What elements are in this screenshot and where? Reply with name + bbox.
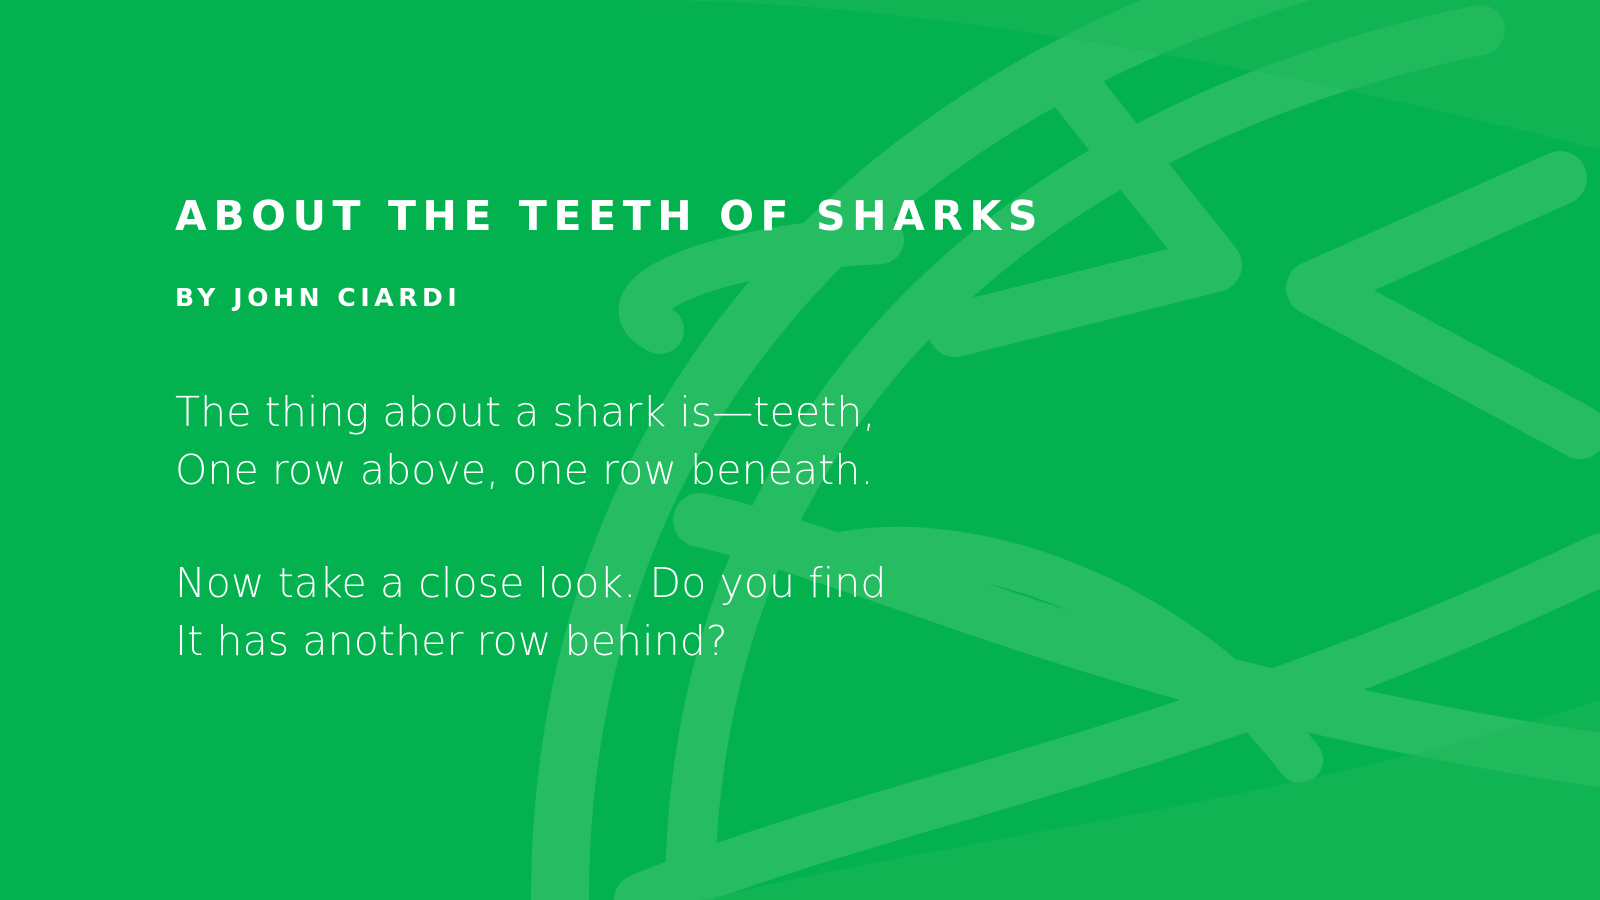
poem-line: Now take a close look. Do you find <box>175 554 1175 612</box>
page-title: ABOUT THE TEETH OF SHARKS <box>175 196 1044 237</box>
poem-line: The thing about a shark is—teeth, <box>175 383 1175 441</box>
poem-line: It has another row behind? <box>175 612 1175 670</box>
poem-body: The thing about a shark is—teeth, One ro… <box>175 383 1175 670</box>
poem-stanza: Now take a close look. Do you find It ha… <box>175 554 1175 670</box>
poem-line: One row above, one row beneath. <box>175 441 1175 499</box>
poem-byline: BY JOHN CIARDI <box>175 285 461 310</box>
shark-tail-chevron <box>1313 178 1580 432</box>
poem-content: ABOUT THE TEETH OF SHARKS BY JOHN CIARDI… <box>175 0 1275 900</box>
poem-card: ABOUT THE TEETH OF SHARKS BY JOHN CIARDI… <box>0 0 1600 900</box>
poem-stanza: The thing about a shark is—teeth, One ro… <box>175 383 1175 499</box>
